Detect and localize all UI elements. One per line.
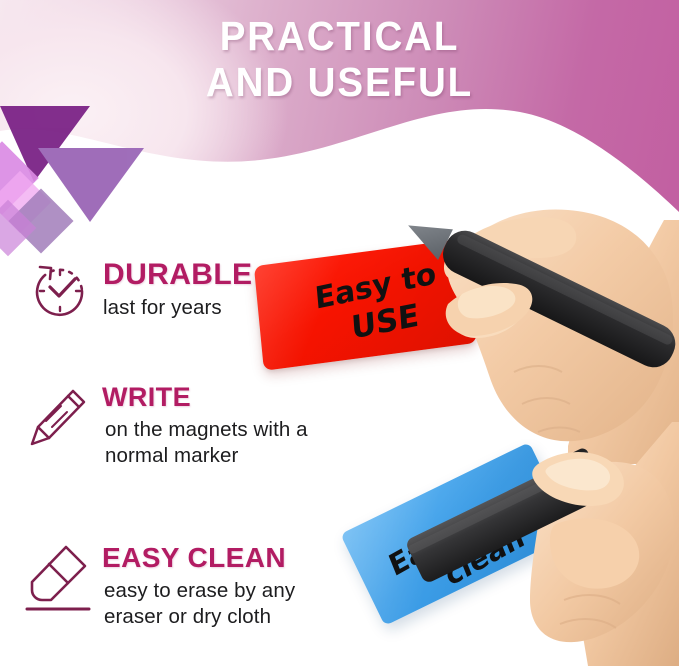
feature-body: last for years: [103, 295, 252, 321]
feature-body: easy to erase by any eraser or dry cloth: [104, 578, 295, 630]
hand-holding-eraser: [438, 428, 679, 666]
clock-check-icon: [30, 257, 92, 327]
pencil-icon: [27, 381, 91, 457]
eraser-icon: [25, 541, 91, 617]
feature-heading: WRITE: [102, 382, 191, 412]
feature-durable: DURABLE last for years: [30, 257, 252, 327]
feature-easy-clean: EASY CLEAN easy to erase by any eraser o…: [25, 541, 295, 630]
feature-heading: DURABLE: [103, 258, 252, 291]
hand-holding-marker: [418, 196, 679, 464]
feature-body: on the magnets with a normal marker: [105, 417, 308, 469]
feature-heading: EASY CLEAN: [102, 542, 286, 573]
feature-write: WRITE on the magnets with a normal marke…: [27, 381, 308, 469]
decorative-purple-shapes: [0, 104, 194, 254]
infographic-canvas: PRACTICAL AND USEFUL DURABLE last for ye…: [0, 0, 679, 666]
